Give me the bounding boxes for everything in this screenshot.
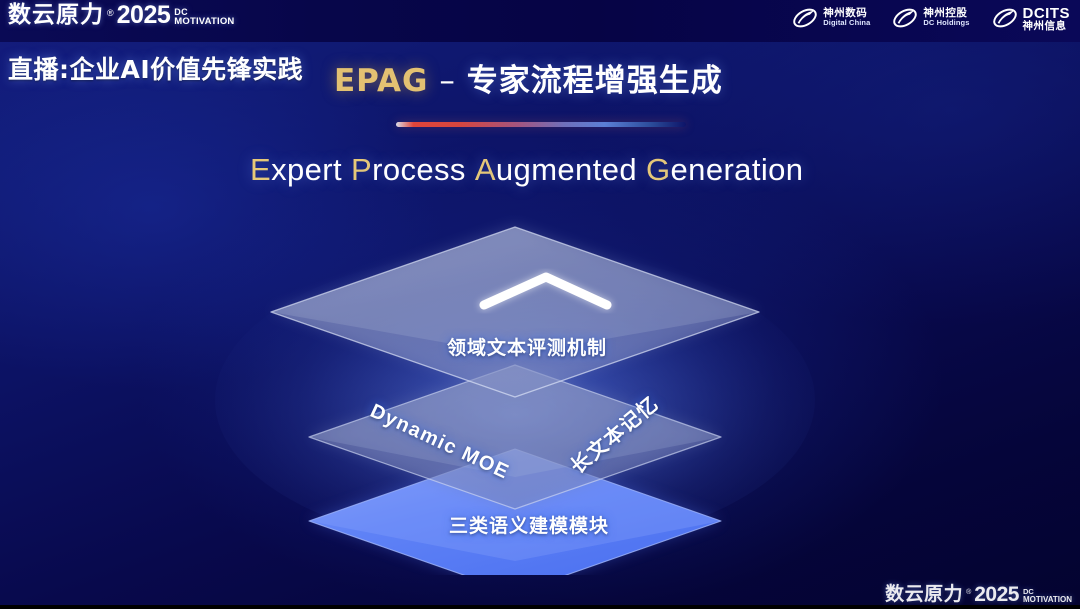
- partner-name-cn: 神州数码: [823, 8, 870, 18]
- subtitle-space-3: [637, 152, 646, 187]
- subtitle-cap-p: P: [351, 152, 372, 187]
- title-chinese: 专家流程增强生成: [467, 63, 723, 99]
- swoosh-icon: [792, 5, 818, 31]
- brand-year: 2025: [117, 2, 171, 28]
- subtitle-rest-generation: eneration: [671, 152, 804, 187]
- partner-logo-dcits: DCITS 神州信息: [992, 5, 1071, 31]
- partner-name-en: DCITS: [1023, 6, 1071, 21]
- partner-name-cn: 神州控股: [923, 8, 969, 18]
- subtitle-cap-a: A: [475, 152, 496, 187]
- subtitle-cap-e: E: [250, 152, 271, 187]
- subtitle-rest-expert: xpert: [271, 152, 342, 187]
- subtitle-cap-g: G: [646, 152, 671, 187]
- brand-dc-motivation: DC MOTIVATION: [174, 8, 234, 26]
- title-acronym: EPAG: [334, 63, 429, 99]
- partner-logo-digital-china: 神州数码 Digital China: [792, 5, 870, 31]
- partner-text: 神州数码 Digital China: [823, 8, 870, 28]
- brand-registered-mark: ®: [107, 6, 114, 20]
- brand-logo: 数云原力 ® 2025 DC MOTIVATION: [8, 2, 235, 28]
- brand-dc-line2: MOTIVATION: [174, 17, 234, 26]
- layered-architecture-diagram: [0, 215, 1080, 575]
- subtitle-space-1: [342, 152, 351, 187]
- partner-text: 神州控股 DC Holdings: [923, 8, 969, 28]
- bottom-edge-bar: [0, 605, 1080, 609]
- live-broadcast-title: 直播:企业AI价值先锋实践: [8, 50, 303, 86]
- partner-logo-dc-holdings: 神州控股 DC Holdings: [892, 5, 969, 31]
- partner-name-en: DC Holdings: [923, 18, 969, 28]
- watermark-logo: 数云原力 ® 2025 DC MOTIVATION: [885, 584, 1072, 605]
- subtitle-rest-process: rocess: [372, 152, 466, 187]
- swoosh-icon: [892, 5, 918, 31]
- partner-name-cn: 神州信息: [1023, 21, 1071, 31]
- watermark-dc-motivation: DC MOTIVATION: [1023, 588, 1072, 604]
- brand-name-cn: 数云原力: [8, 2, 104, 28]
- swoosh-icon: [992, 5, 1018, 31]
- presentation-slide: 数云原力 ® 2025 DC MOTIVATION 直播:企业AI价值先锋实践 …: [0, 0, 1080, 609]
- title-divider: [396, 122, 686, 127]
- title-dash: –: [429, 63, 467, 99]
- page-subtitle: Expert Process Augmented Generation: [250, 152, 803, 188]
- watermark-registered-mark: ®: [966, 587, 971, 598]
- watermark-name-cn: 数云原力: [885, 584, 963, 605]
- partner-logos: 神州数码 Digital China 神州控股 DC Holdings: [792, 5, 1070, 31]
- partner-name-en: Digital China: [823, 18, 870, 28]
- page-title: EPAG – 专家流程增强生成: [334, 55, 723, 100]
- partner-text: DCITS 神州信息: [1023, 6, 1071, 31]
- subtitle-space-2: [466, 152, 475, 187]
- watermark-year: 2025: [974, 584, 1019, 605]
- watermark-dc-line2: MOTIVATION: [1023, 596, 1072, 604]
- subtitle-rest-augmented: ugmented: [496, 152, 637, 187]
